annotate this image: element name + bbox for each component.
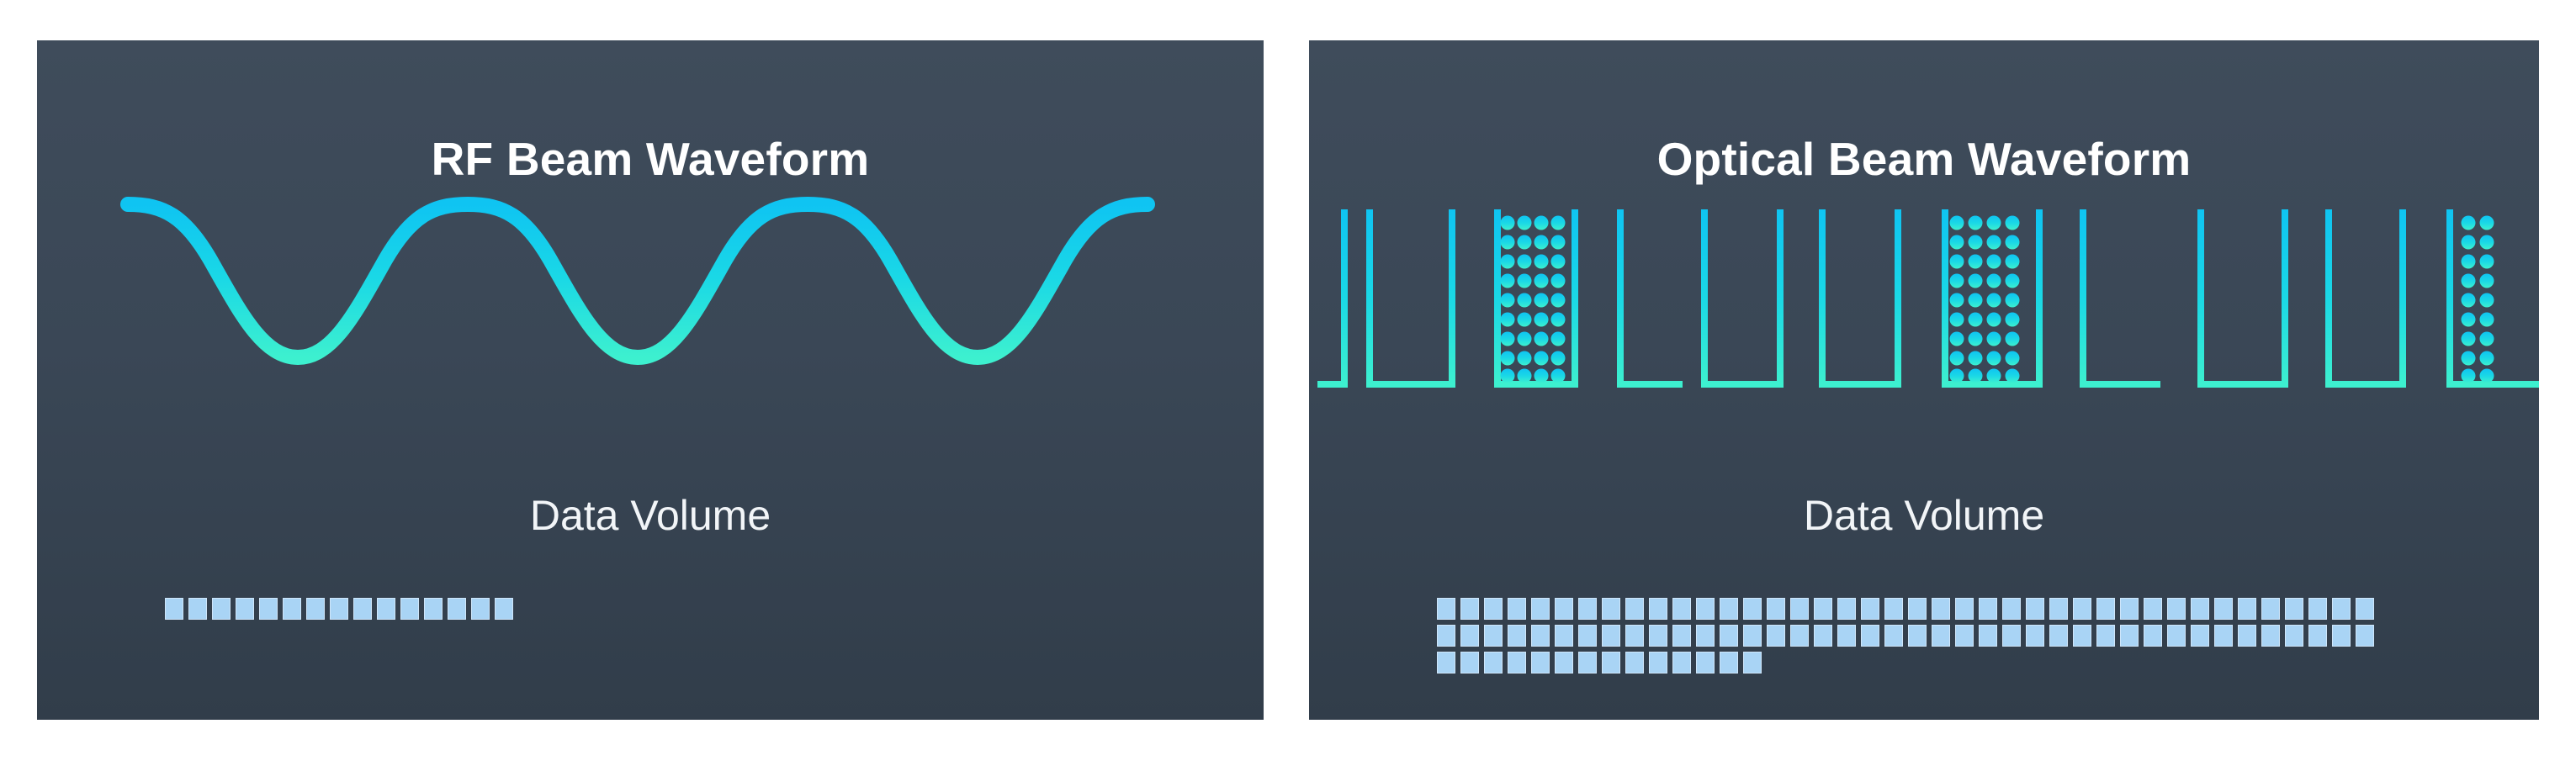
volume-cell: [1955, 625, 1974, 647]
volume-cell: [1531, 625, 1550, 647]
volume-cell: [2261, 598, 2280, 620]
volume-cell: [1602, 652, 1620, 674]
volume-row: [1437, 598, 2505, 620]
volume-cell: [1555, 625, 1573, 647]
volume-cell: [1932, 625, 1950, 647]
volume-cell: [2049, 625, 2068, 647]
volume-cell: [2356, 625, 2374, 647]
volume-row: [1437, 652, 2505, 674]
volume-cell: [2332, 598, 2351, 620]
volume-cell: [1767, 625, 1785, 647]
beam-comparison-figure: RF Beam Waveform Data Volume: [0, 0, 2576, 766]
volume-cell: [2073, 598, 2091, 620]
volume-cell: [400, 598, 419, 620]
volume-cell: [1672, 625, 1691, 647]
volume-cell: [1908, 625, 1927, 647]
volume-cell: [2026, 598, 2044, 620]
volume-cell: [2238, 598, 2256, 620]
volume-cell: [1814, 598, 1832, 620]
volume-cell: [2073, 625, 2091, 647]
data-volume-grid-rf: [165, 598, 1225, 620]
volume-cell: [1531, 652, 1550, 674]
volume-cell: [1531, 598, 1550, 620]
volume-cell: [2214, 625, 2233, 647]
volume-cell: [2191, 598, 2209, 620]
volume-cell: [1578, 598, 1597, 620]
volume-cell: [1437, 652, 1455, 674]
volume-cell: [2214, 598, 2233, 620]
volume-cell: [1932, 598, 1950, 620]
volume-cell: [1508, 652, 1526, 674]
volume-cell: [1743, 598, 1762, 620]
volume-cell: [1437, 625, 1455, 647]
volume-cell: [1484, 652, 1503, 674]
volume-cell: [424, 598, 443, 620]
volume-cell: [1767, 598, 1785, 620]
volume-cell: [2191, 625, 2209, 647]
optical-dot-burst-blocks: [1501, 216, 2494, 383]
volume-cell: [1555, 652, 1573, 674]
volume-cell: [1979, 625, 1997, 647]
volume-cell: [1720, 625, 1738, 647]
waveform-rf-sine: [37, 179, 1264, 406]
volume-cell: [2285, 598, 2303, 620]
volume-cell: [1696, 598, 1715, 620]
volume-cell: [1484, 625, 1503, 647]
volume-cell: [1602, 625, 1620, 647]
volume-cell: [1884, 625, 1903, 647]
volume-cell: [259, 598, 278, 620]
volume-cell: [1508, 598, 1526, 620]
volume-cell: [2120, 625, 2139, 647]
volume-cell: [1578, 625, 1597, 647]
volume-cell: [471, 598, 490, 620]
waveform-optical-pulse-train: [1309, 179, 2539, 406]
volume-cell: [495, 598, 513, 620]
volume-cell: [1837, 598, 1856, 620]
volume-cell: [1955, 598, 1974, 620]
volume-cell: [2096, 625, 2115, 647]
volume-cell: [2002, 598, 2021, 620]
volume-cell: [283, 598, 301, 620]
panel-rf-beam: RF Beam Waveform Data Volume: [37, 40, 1264, 720]
volume-cell: [1649, 625, 1667, 647]
volume-cell: [2261, 625, 2280, 647]
volume-cell: [2356, 598, 2374, 620]
volume-cell: [1837, 625, 1856, 647]
volume-cell: [165, 598, 183, 620]
volume-cell: [1814, 625, 1832, 647]
volume-row: [1437, 625, 2505, 647]
volume-cell: [2285, 625, 2303, 647]
volume-cell: [1979, 598, 1997, 620]
volume-cell: [1790, 598, 1809, 620]
volume-cell: [1720, 598, 1738, 620]
volume-cell: [2096, 598, 2115, 620]
volume-cell: [1625, 625, 1644, 647]
volume-cell: [2026, 625, 2044, 647]
volume-cell: [1578, 652, 1597, 674]
volume-cell: [236, 598, 254, 620]
rf-sine-path: [128, 204, 1148, 357]
volume-cell: [212, 598, 231, 620]
volume-cell: [1460, 652, 1479, 674]
volume-cell: [1696, 652, 1715, 674]
panel-title-rf: RF Beam Waveform: [37, 136, 1264, 182]
volume-cell: [1720, 652, 1738, 674]
volume-cell: [2002, 625, 2021, 647]
volume-cell: [2308, 598, 2327, 620]
volume-label-optical: Data Volume: [1309, 494, 2539, 536]
volume-cell: [2238, 625, 2256, 647]
volume-cell: [1861, 598, 1879, 620]
volume-cell: [1884, 598, 1903, 620]
volume-cell: [2144, 598, 2162, 620]
volume-cell: [1460, 625, 1479, 647]
panel-optical-beam: Optical Beam Waveform: [1309, 40, 2539, 720]
volume-cell: [353, 598, 372, 620]
volume-cell: [188, 598, 207, 620]
volume-cell: [2167, 598, 2186, 620]
volume-cell: [1696, 625, 1715, 647]
volume-cell: [1649, 652, 1667, 674]
volume-cell: [1625, 652, 1644, 674]
volume-cell: [2120, 598, 2139, 620]
volume-cell: [306, 598, 325, 620]
volume-cell: [1908, 598, 1927, 620]
volume-cell: [1437, 598, 1455, 620]
volume-cell: [1672, 598, 1691, 620]
data-volume-grid-optical: [1437, 598, 2505, 674]
volume-cell: [330, 598, 348, 620]
volume-cell: [1625, 598, 1644, 620]
volume-cell: [1555, 598, 1573, 620]
volume-cell: [1602, 598, 1620, 620]
volume-cell: [1649, 598, 1667, 620]
volume-cell: [2308, 625, 2327, 647]
volume-cell: [1508, 625, 1526, 647]
volume-cell: [1460, 598, 1479, 620]
volume-cell: [2167, 625, 2186, 647]
optical-pulse-svg: [1309, 179, 2539, 406]
volume-row: [165, 598, 1225, 620]
volume-cell: [2049, 598, 2068, 620]
volume-cell: [2332, 625, 2351, 647]
volume-label-rf: Data Volume: [37, 494, 1264, 536]
volume-cell: [1484, 598, 1503, 620]
rf-sine-svg: [37, 179, 1264, 406]
panel-title-optical: Optical Beam Waveform: [1309, 136, 2539, 182]
volume-cell: [1672, 652, 1691, 674]
volume-cell: [448, 598, 466, 620]
volume-cell: [1743, 625, 1762, 647]
volume-cell: [377, 598, 395, 620]
volume-cell: [1861, 625, 1879, 647]
volume-cell: [1743, 652, 1762, 674]
volume-cell: [2144, 625, 2162, 647]
volume-cell: [1790, 625, 1809, 647]
